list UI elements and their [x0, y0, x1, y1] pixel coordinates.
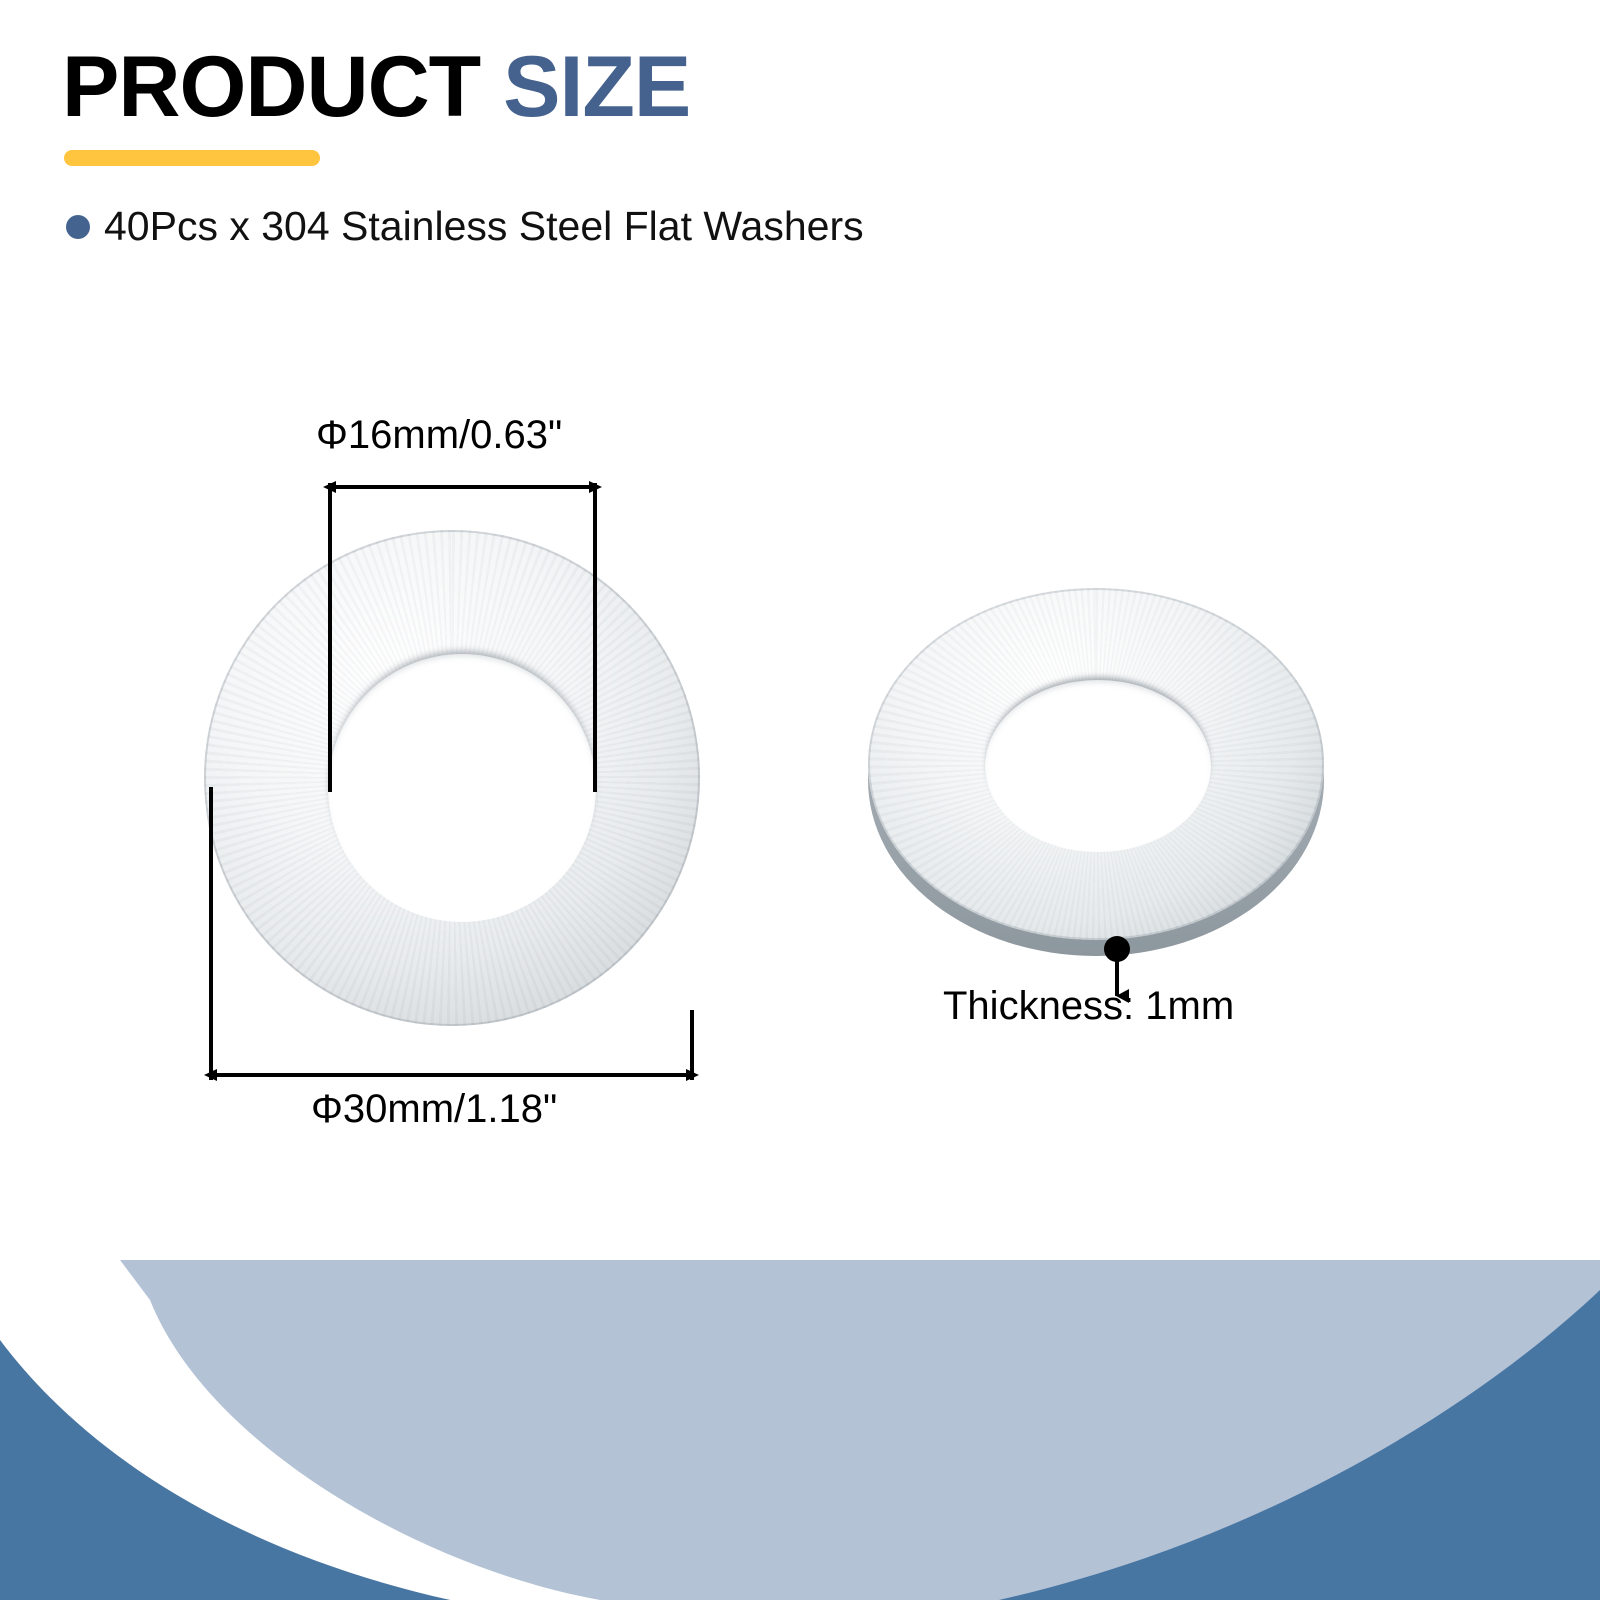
- header-block: PRODUCT SIZE: [62, 44, 1062, 132]
- footer-wave-decoration: [0, 1260, 1600, 1600]
- inner-diameter-label: Φ16mm/0.63": [316, 413, 562, 458]
- page-title-primary: PRODUCT: [62, 39, 503, 135]
- washer-center-hole: [328, 654, 596, 922]
- flat-washer-front-view: [204, 530, 700, 1026]
- product-size-infographic: PRODUCT SIZE 40Pcs x 304 Stainless Steel…: [0, 0, 1600, 1600]
- outer-diameter-label: Φ30mm/1.18": [311, 1087, 557, 1132]
- subtitle-row: 40Pcs x 304 Stainless Steel Flat Washers: [66, 203, 864, 250]
- subtitle-text: 40Pcs x 304 Stainless Steel Flat Washers: [104, 203, 864, 250]
- washer-center-hole: [985, 680, 1211, 852]
- flat-washer-angled-view: [868, 588, 1324, 964]
- page-title: PRODUCT SIZE: [62, 44, 1062, 132]
- page-title-accent: SIZE: [503, 39, 690, 135]
- bullet-dot-icon: [66, 215, 90, 239]
- thickness-label: Thickness: 1mm: [943, 984, 1234, 1029]
- accent-bar: [64, 150, 320, 166]
